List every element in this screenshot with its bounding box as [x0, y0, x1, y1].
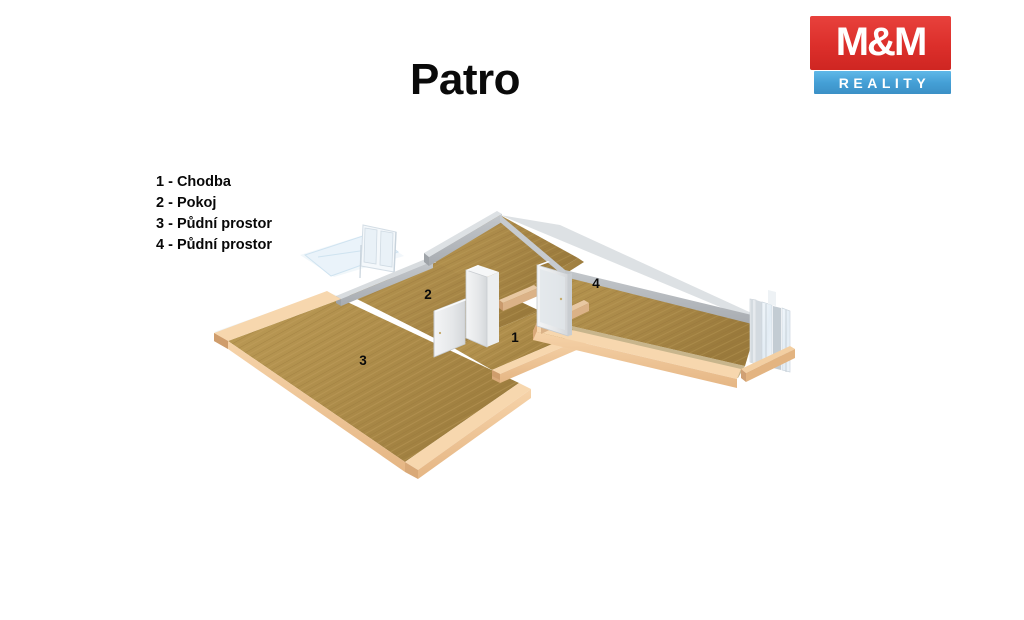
brand-logo[interactable]: M&M REALITY [810, 16, 951, 94]
floor-plan-page: 3 2 1 4 Patro 1 - Chodba 2 - Pokoj 3 - P… [0, 0, 1024, 620]
room-marker-3: 3 [359, 353, 367, 368]
brand-logo-mark: M&M [810, 16, 951, 70]
door-hall-inner[interactable] [466, 265, 487, 347]
page-title: Patro [0, 58, 930, 102]
room-marker-2: 2 [424, 287, 432, 302]
brand-logo-tagline-band: REALITY [814, 71, 951, 94]
door-hall-to-attic4[interactable] [537, 261, 568, 336]
door-frame-attic4 [568, 273, 572, 336]
legend-item-4: 4 - Půdní prostor [156, 235, 272, 256]
room-marker-4: 4 [592, 276, 600, 291]
legend-item-3: 3 - Půdní prostor [156, 214, 272, 235]
window-loose-panel[interactable] [360, 225, 396, 278]
brand-logo-text: M&M [836, 22, 926, 65]
brand-logo-tagline: REALITY [835, 76, 930, 90]
legend-item-2: 2 - Pokoj [156, 193, 272, 214]
legend-item-1: 1 - Chodba [156, 172, 272, 193]
room-marker-1: 1 [511, 330, 519, 345]
room-legend: 1 - Chodba 2 - Pokoj 3 - Půdní prostor 4… [156, 172, 272, 256]
